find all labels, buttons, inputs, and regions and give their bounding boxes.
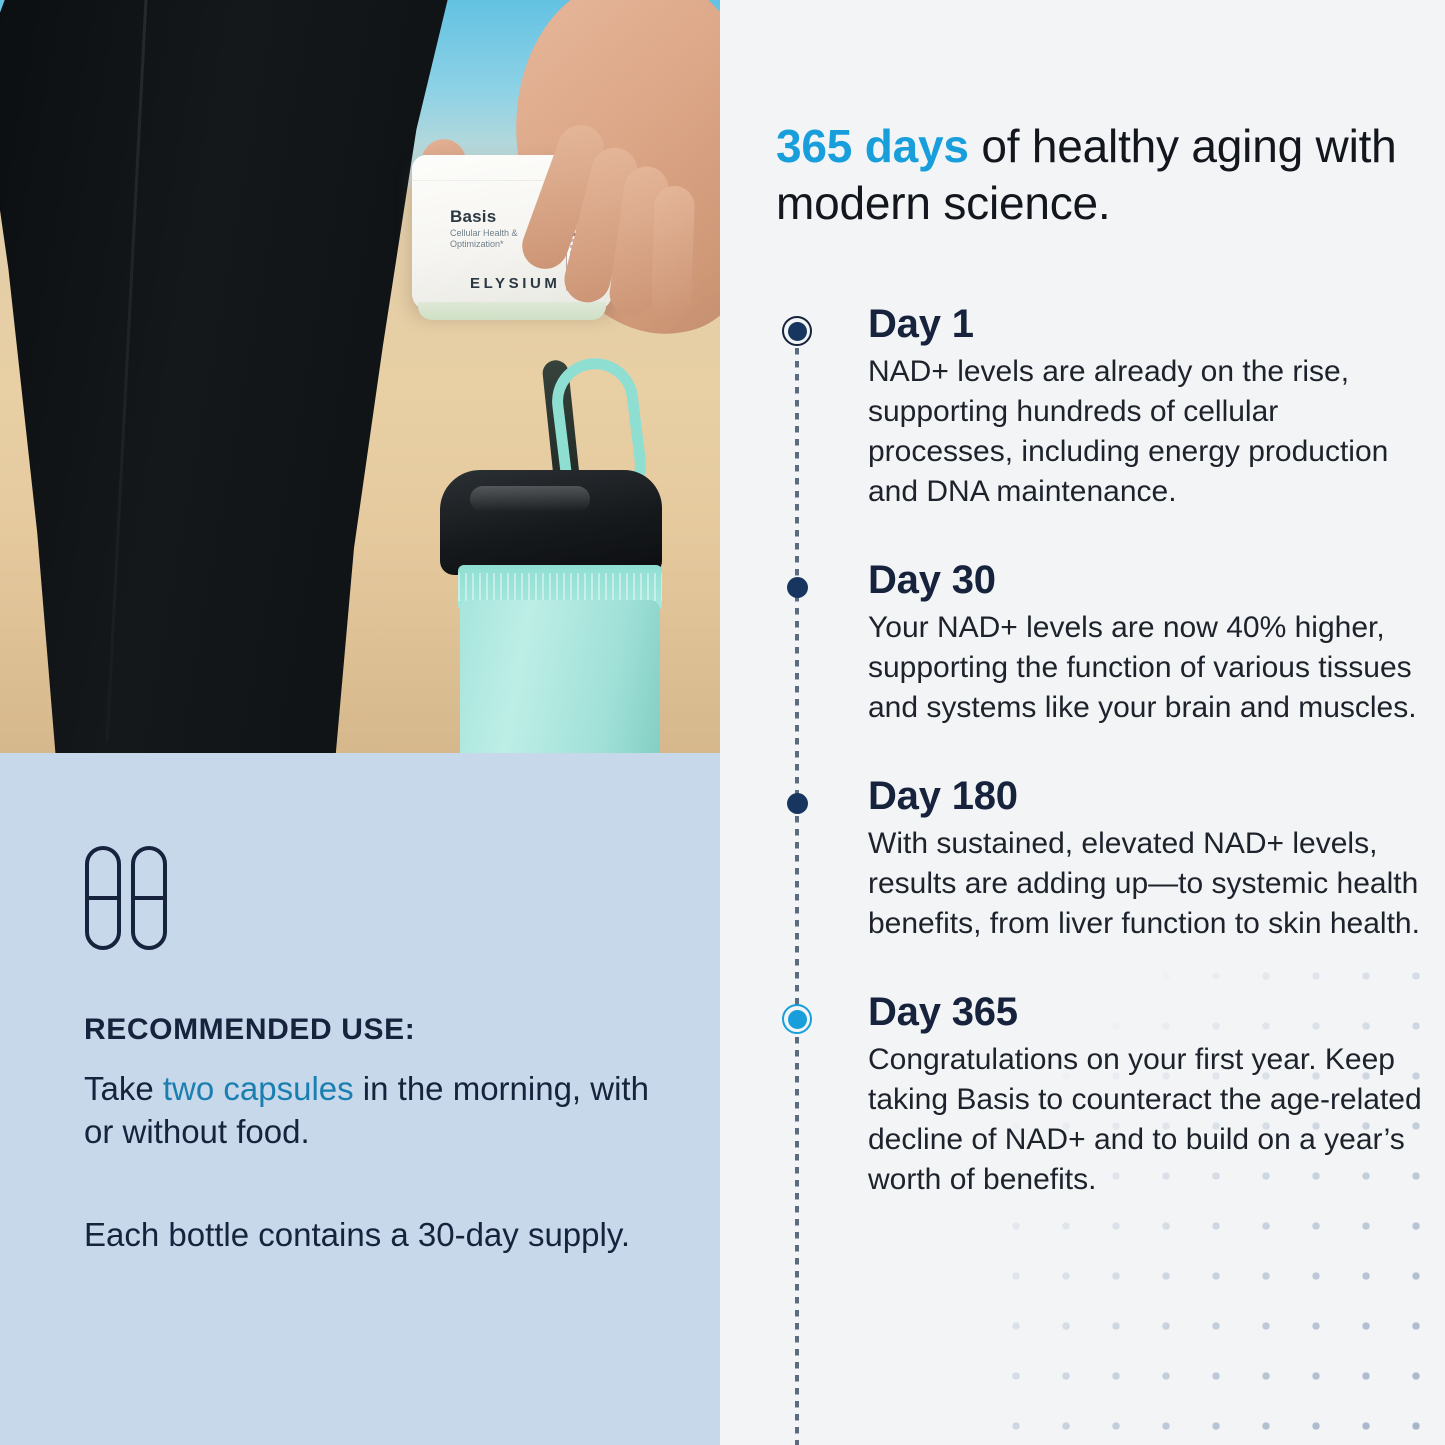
timeline-marker-ringed-navy-icon xyxy=(782,316,812,346)
timeline-marker-solid-navy-icon xyxy=(782,788,812,818)
timeline-day-description: Your NAD+ levels are now 40% higher, sup… xyxy=(868,608,1428,728)
timeline-day-description: NAD+ levels are already on the rise, sup… xyxy=(868,352,1428,512)
timeline-day-description: Congratulations on your first year. Keep… xyxy=(868,1040,1428,1200)
product-lifestyle-photo: Basis Cellular Health & Optimization* EL… xyxy=(0,0,720,753)
timeline-day-label: Day 1 xyxy=(868,300,1436,348)
timeline-day-label: Day 180 xyxy=(868,772,1436,820)
timeline-item-day-30: Day 30 Your NAD+ levels are now 40% high… xyxy=(776,556,1436,728)
two-capsules-icon xyxy=(84,845,168,951)
bottle-cap-highlight xyxy=(470,486,590,512)
leggings-seam xyxy=(106,0,148,742)
jar-brand-name: ELYSIUM xyxy=(470,275,561,292)
water-bottle xyxy=(460,600,660,753)
supply-note: Each bottle contains a 30-day supply. xyxy=(84,1213,656,1256)
recommended-use-heading: RECOMMENDED USE: xyxy=(84,1013,656,1047)
use-body-accent: two capsules xyxy=(163,1070,354,1107)
use-body-prefix: Take xyxy=(84,1070,163,1107)
timeline-day-description: With sustained, elevated NAD+ levels, re… xyxy=(868,824,1428,944)
finger xyxy=(651,185,696,316)
timeline-item-day-365: Day 365 Congratulations on your first ye… xyxy=(776,988,1436,1200)
timeline: Day 1 NAD+ levels are already on the ris… xyxy=(776,300,1436,1244)
timeline-item-day-1: Day 1 NAD+ levels are already on the ris… xyxy=(776,300,1436,512)
right-column: 365 days of healthy aging with modern sc… xyxy=(720,0,1445,1445)
timeline-marker-solid-navy-icon xyxy=(782,572,812,602)
page-title: 365 days of healthy aging with modern sc… xyxy=(776,118,1426,232)
timeline-day-label: Day 30 xyxy=(868,556,1436,604)
recommended-use-panel: RECOMMENDED USE: Take two capsules in th… xyxy=(0,753,720,1445)
recommended-use-body: Take two capsules in the morning, with o… xyxy=(84,1067,656,1153)
jar-base xyxy=(418,302,606,320)
timeline-item-day-180: Day 180 With sustained, elevated NAD+ le… xyxy=(776,772,1436,944)
headline-accent: 365 days xyxy=(776,120,969,172)
left-column: Basis Cellular Health & Optimization* EL… xyxy=(0,0,720,1445)
jar-product-name: Basis xyxy=(450,207,496,227)
infographic-root: Basis Cellular Health & Optimization* EL… xyxy=(0,0,1445,1445)
timeline-day-label: Day 365 xyxy=(868,988,1436,1036)
timeline-marker-ringed-cyan-icon xyxy=(782,1004,812,1034)
